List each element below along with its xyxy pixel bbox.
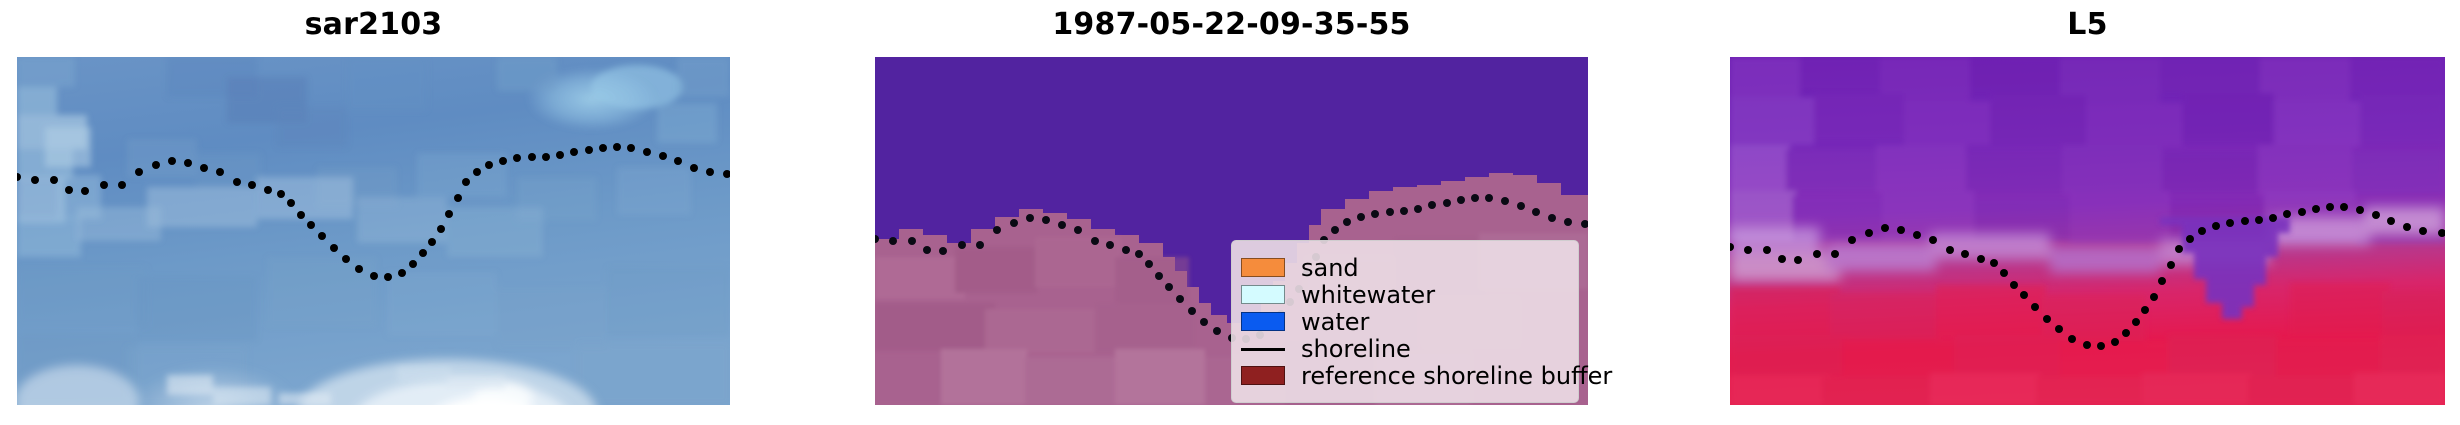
sar-raster-image bbox=[17, 57, 730, 405]
legend-label-whitewater: whitewater bbox=[1301, 282, 1435, 308]
panel-l5[interactable] bbox=[1730, 57, 2445, 405]
panel-title-sar: sar2103 bbox=[17, 8, 730, 42]
legend-label-reference-buffer: reference shoreline buffer bbox=[1301, 363, 1612, 389]
figure-root: sar2103 bbox=[0, 0, 2460, 425]
legend-item-reference-buffer: reference shoreline buffer bbox=[1241, 362, 1567, 389]
panel-sar[interactable] bbox=[17, 57, 730, 405]
panel-title-classified: 1987-05-22-09-35-55 bbox=[875, 8, 1588, 42]
legend-label-sand: sand bbox=[1301, 255, 1359, 281]
legend-label-shoreline: shoreline bbox=[1301, 336, 1411, 362]
legend-swatch-sand bbox=[1241, 258, 1285, 277]
l5-raster-image bbox=[1730, 57, 2445, 405]
legend-swatch-shoreline bbox=[1241, 348, 1285, 351]
legend-item-sand: sand bbox=[1241, 254, 1567, 281]
legend-item-shoreline: shoreline bbox=[1241, 335, 1567, 362]
legend-swatch-water bbox=[1241, 312, 1285, 331]
legend-item-water: water bbox=[1241, 308, 1567, 335]
legend-swatch-whitewater bbox=[1241, 285, 1285, 304]
legend-swatch-reference-buffer bbox=[1241, 366, 1285, 385]
panel-title-l5: L5 bbox=[1730, 8, 2445, 42]
legend: sand whitewater water shoreline referenc… bbox=[1231, 240, 1579, 403]
legend-item-whitewater: whitewater bbox=[1241, 281, 1567, 308]
legend-label-water: water bbox=[1301, 309, 1369, 335]
